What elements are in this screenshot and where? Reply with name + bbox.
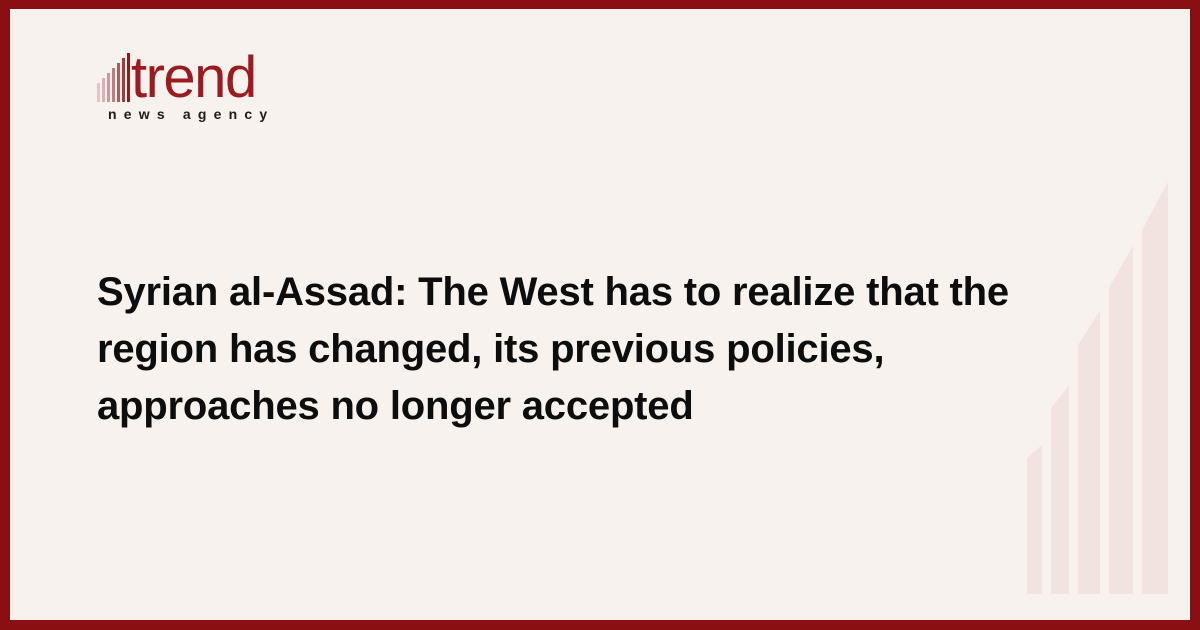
logo-bar-7 [127, 53, 130, 102]
logo-mark: trend [97, 45, 397, 103]
decorative-bar-4 [1109, 244, 1133, 594]
logo-bar-6 [122, 58, 125, 102]
logo-bar-1 [97, 83, 100, 102]
logo-bar-3 [107, 73, 110, 102]
logo-bar-4 [112, 68, 115, 102]
decorative-bar-5 [1142, 179, 1168, 594]
logo-bars-icon [97, 56, 130, 102]
logo-bar-2 [102, 78, 105, 102]
social-share-card: trend news agency Syrian al-Assad: The W… [0, 0, 1200, 630]
article-headline: Syrian al-Assad: The West has to realize… [97, 264, 1097, 435]
card-surface: trend news agency Syrian al-Assad: The W… [10, 9, 1190, 620]
decorative-bar-1 [1027, 444, 1042, 594]
trend-news-agency-logo[interactable]: trend news agency [97, 45, 397, 122]
logo-wordmark: trend [131, 50, 256, 106]
logo-bar-5 [117, 63, 120, 102]
